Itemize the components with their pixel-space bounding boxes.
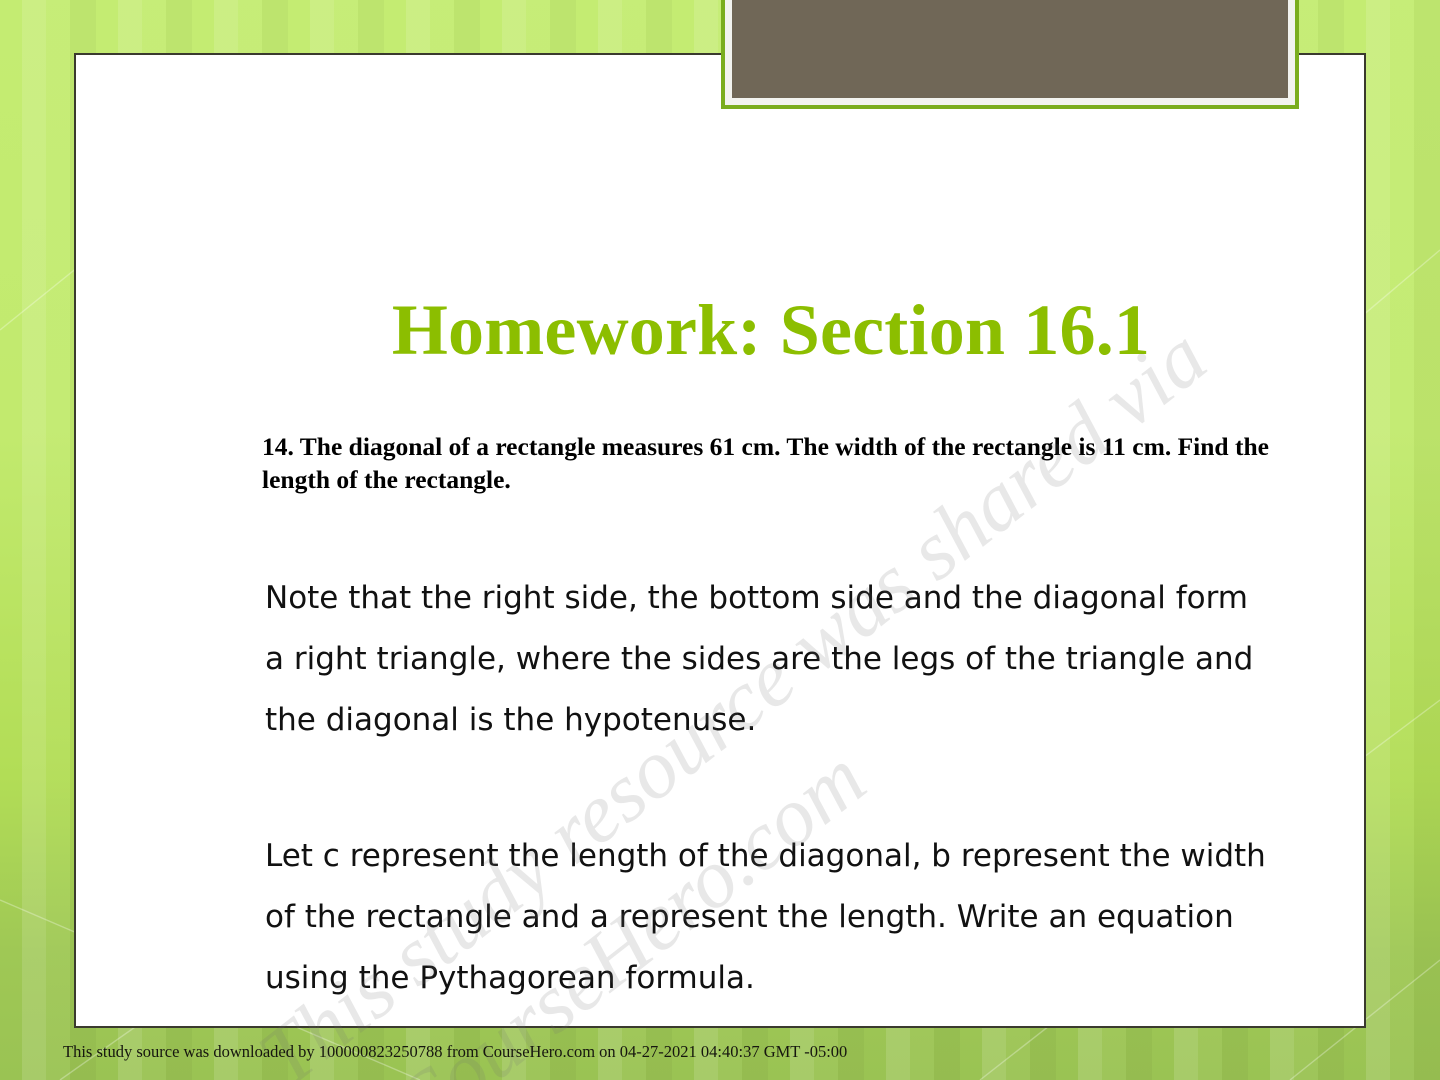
explanation-paragraph-2: Let c represent the length of the diagon… — [265, 826, 1275, 1009]
decorative-picture-fill — [732, 0, 1288, 98]
decorative-picture-frame — [721, 0, 1299, 109]
slide-title: Homework: Section 16.1 — [256, 293, 1286, 368]
download-attribution-footer: This study source was downloaded by 1000… — [63, 1042, 847, 1062]
explanation-paragraph-1: Note that the right side, the bottom sid… — [265, 568, 1275, 751]
slide-stage: Homework: Section 16.1 14. The diagonal … — [0, 0, 1440, 1080]
slide-content-card: Homework: Section 16.1 14. The diagonal … — [74, 53, 1366, 1028]
homework-question-text: 14. The diagonal of a rectangle measures… — [262, 430, 1298, 497]
